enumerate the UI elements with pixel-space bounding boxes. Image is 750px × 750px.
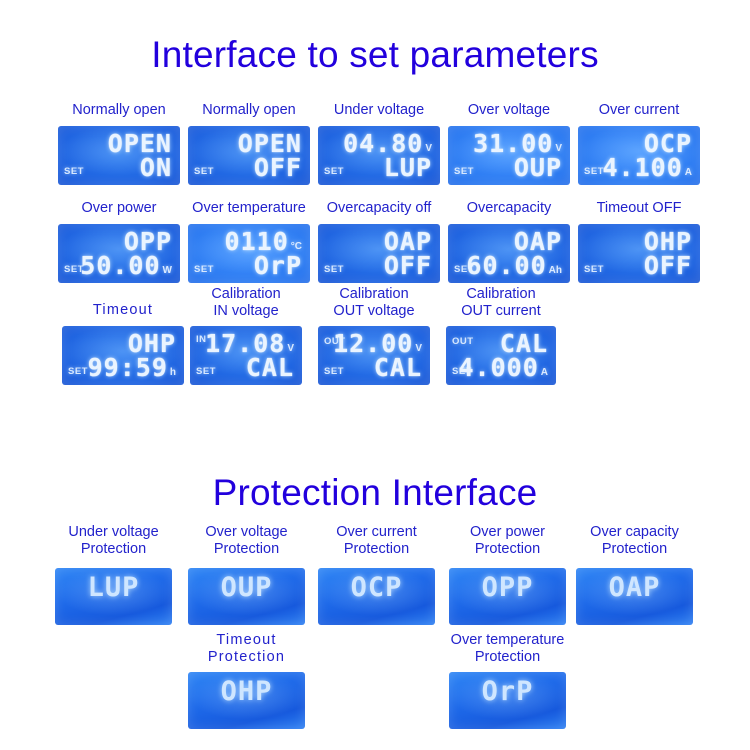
display-caption: TimeoutProtection <box>188 632 305 665</box>
setup-display-card: Over voltageSET31.00VOUP <box>448 126 570 185</box>
caption-line: Protection <box>576 541 693 558</box>
lcd-panel[interactable]: OAP <box>576 568 693 625</box>
lcd-set-indicator: SET <box>324 166 344 177</box>
display-caption: CalibrationOUT voltage <box>318 286 430 319</box>
lcd-panel[interactable]: SETOPENOFF <box>188 126 310 185</box>
protection-code: OCP <box>351 574 403 601</box>
lcd-secondary-row: OUP <box>514 155 562 180</box>
display-caption: Over powerProtection <box>449 524 566 557</box>
lcd-panel[interactable]: SET31.00VOUP <box>448 126 570 185</box>
protection-display-card: Over voltageProtectionOUP <box>188 568 305 625</box>
caption-line: Normally open <box>58 102 180 119</box>
display-caption: Over current <box>578 102 700 119</box>
protection-code: OAP <box>609 574 661 601</box>
lcd-set-indicator: SET <box>324 264 344 275</box>
lcd-set-indicator: SET <box>454 166 474 177</box>
display-caption: Over power <box>58 200 180 217</box>
protection-code: OHP <box>221 678 273 705</box>
display-caption: CalibrationIN voltage <box>190 286 302 319</box>
setup-display-card: Under voltageSET04.80VLUP <box>318 126 440 185</box>
lcd-secondary-row-value: OFF <box>644 253 692 278</box>
lcd-secondary-row-value: 4.000 <box>459 355 539 380</box>
lcd-panel[interactable]: OUTSET12.00VCAL <box>318 326 430 385</box>
caption-line: Protection <box>55 541 172 558</box>
display-caption: Normally open <box>58 102 180 119</box>
lcd-set-indicator: SET <box>64 166 84 177</box>
lcd-panel[interactable]: SETOAPOFF <box>318 224 440 283</box>
lcd-secondary-row: 4.000A <box>459 355 549 380</box>
caption-line: Over temperature <box>449 632 566 649</box>
display-caption: Timeout <box>62 302 184 319</box>
lcd-panel[interactable]: SET04.80VLUP <box>318 126 440 185</box>
setup-display-card: Normally openSETOPENON <box>58 126 180 185</box>
lcd-set-indicator: SET <box>194 264 214 275</box>
lcd-panel[interactable]: SETOPENON <box>58 126 180 185</box>
caption-line: Protection <box>188 649 305 666</box>
protection-display-card: Over temperatureProtectionOrP <box>449 672 566 729</box>
lcd-secondary-row-unit: A <box>685 167 692 180</box>
protection-display-card: Over powerProtectionOPP <box>449 568 566 625</box>
lcd-set-indicator: SET <box>324 366 344 377</box>
display-caption: Over temperatureProtection <box>449 632 566 665</box>
setup-display-card: CalibrationIN voltageINSET17.08VCAL <box>190 326 302 385</box>
lcd-secondary-row-value: 60.00 <box>466 253 546 278</box>
lcd-secondary-row: 99:59h <box>88 355 176 380</box>
lcd-panel[interactable]: SETOAP60.00Ah <box>448 224 570 283</box>
caption-line: Over voltage <box>448 102 570 119</box>
lcd-secondary-row: ON <box>140 155 172 180</box>
lcd-panel[interactable]: SETOPP50.00W <box>58 224 180 283</box>
display-caption: Under voltageProtection <box>55 524 172 557</box>
lcd-secondary-row: 50.00W <box>80 253 172 278</box>
caption-line: Protection <box>449 649 566 666</box>
caption-line: Over power <box>449 524 566 541</box>
caption-line: Protection <box>449 541 566 558</box>
setup-display-card: Normally openSETOPENOFF <box>188 126 310 185</box>
caption-line: Timeout OFF <box>578 200 700 217</box>
setup-display-card: TimeoutSETOHP99:59h <box>62 326 184 385</box>
caption-line: Timeout <box>62 302 184 319</box>
lcd-secondary-row: CAL <box>246 355 294 380</box>
lcd-set-indicator: SET <box>584 166 604 177</box>
setup-display-card: Over powerSETOPP50.00W <box>58 224 180 283</box>
setup-display-card: Timeout OFFSETOHPOFF <box>578 224 700 283</box>
lcd-secondary-row-unit: Ah <box>549 265 562 278</box>
protection-code: LUP <box>88 574 140 601</box>
display-caption: Over currentProtection <box>318 524 435 557</box>
setup-display-card: CalibrationOUT voltageOUTSET12.00VCAL <box>318 326 430 385</box>
caption-line: Overcapacity <box>448 200 570 217</box>
lcd-set-indicator: SET <box>68 366 88 377</box>
lcd-secondary-row-value: ON <box>140 155 172 180</box>
protection-code-row: OPP <box>449 568 566 625</box>
display-caption: Over voltage <box>448 102 570 119</box>
lcd-secondary-row-value: CAL <box>246 355 294 380</box>
setup-display-card: Over temperatureSET0110°COrP <box>188 224 310 283</box>
caption-line: Under voltage <box>318 102 440 119</box>
lcd-set-indicator: SET <box>584 264 604 275</box>
lcd-panel[interactable]: LUP <box>55 568 172 625</box>
protection-code: OrP <box>482 678 534 705</box>
lcd-panel[interactable]: SETOCP4.100A <box>578 126 700 185</box>
setup-display-card: OvercapacitySETOAP60.00Ah <box>448 224 570 283</box>
lcd-secondary-row: 4.100A <box>603 155 693 180</box>
section-title-protection: Protection Interface <box>0 472 750 514</box>
protection-code: OPP <box>482 574 534 601</box>
display-caption: Over capacityProtection <box>576 524 693 557</box>
lcd-secondary-row-value: OrP <box>254 253 302 278</box>
caption-line: Over capacity <box>576 524 693 541</box>
display-caption: Under voltage <box>318 102 440 119</box>
lcd-set-indicator: SET <box>196 366 216 377</box>
lcd-secondary-row-unit: W <box>163 265 172 278</box>
lcd-secondary-row: OrP <box>254 253 302 278</box>
caption-line: Over power <box>58 200 180 217</box>
caption-line: Over temperature <box>188 200 310 217</box>
lcd-secondary-row-value: OFF <box>384 253 432 278</box>
lcd-secondary-row: 60.00Ah <box>466 253 562 278</box>
display-caption: Over temperature <box>188 200 310 217</box>
lcd-panel[interactable]: OrP <box>449 672 566 729</box>
lcd-panel[interactable]: OUTSETCAL4.000A <box>446 326 556 385</box>
page-root: Interface to set parameters Protection I… <box>0 0 750 750</box>
lcd-secondary-row: OFF <box>254 155 302 180</box>
caption-line: Over voltage <box>188 524 305 541</box>
protection-code: OUP <box>221 574 273 601</box>
lcd-secondary-row-value: 4.100 <box>603 155 683 180</box>
protection-code-row: OrP <box>449 672 566 729</box>
display-caption: Overcapacity off <box>318 200 440 217</box>
protection-display-card: Under voltageProtectionLUP <box>55 568 172 625</box>
section-title-set-parameters: Interface to set parameters <box>0 34 750 76</box>
caption-line: Protection <box>188 541 305 558</box>
lcd-secondary-row-value: OUP <box>514 155 562 180</box>
lcd-panel[interactable]: SET0110°COrP <box>188 224 310 283</box>
protection-display-card: TimeoutProtectionOHP <box>188 672 305 729</box>
caption-line: Calibration <box>190 286 302 303</box>
setup-display-card: Over currentSETOCP4.100A <box>578 126 700 185</box>
caption-line: Calibration <box>446 286 556 303</box>
caption-line: OUT current <box>446 303 556 320</box>
protection-code-row: OAP <box>576 568 693 625</box>
setup-display-card: Overcapacity offSETOAPOFF <box>318 224 440 283</box>
caption-line: Under voltage <box>55 524 172 541</box>
lcd-secondary-row-value: OFF <box>254 155 302 180</box>
lcd-panel[interactable]: INSET17.08VCAL <box>190 326 302 385</box>
caption-line: Overcapacity off <box>318 200 440 217</box>
protection-code-row: OCP <box>318 568 435 625</box>
lcd-panel[interactable]: SETOHP99:59h <box>62 326 184 385</box>
lcd-panel[interactable]: OUP <box>188 568 305 625</box>
lcd-secondary-row-value: 99:59 <box>88 355 168 380</box>
lcd-secondary-row-value: CAL <box>374 355 422 380</box>
caption-line: Calibration <box>318 286 430 303</box>
caption-line: Over current <box>318 524 435 541</box>
lcd-secondary-row: OFF <box>644 253 692 278</box>
lcd-panel[interactable]: OHP <box>188 672 305 729</box>
lcd-panel[interactable]: SETOHPOFF <box>578 224 700 283</box>
lcd-secondary-row-value: LUP <box>384 155 432 180</box>
lcd-panel[interactable]: OPP <box>449 568 566 625</box>
lcd-secondary-row: OFF <box>384 253 432 278</box>
lcd-secondary-row: LUP <box>384 155 432 180</box>
display-caption: Overcapacity <box>448 200 570 217</box>
protection-code-row: OHP <box>188 672 305 729</box>
display-caption: Normally open <box>188 102 310 119</box>
caption-line: Over current <box>578 102 700 119</box>
protection-code-row: OUP <box>188 568 305 625</box>
lcd-secondary-row-unit: h <box>170 367 176 380</box>
caption-line: Normally open <box>188 102 310 119</box>
caption-line: Timeout <box>188 632 305 649</box>
lcd-secondary-row: CAL <box>374 355 422 380</box>
protection-code-row: LUP <box>55 568 172 625</box>
caption-line: IN voltage <box>190 303 302 320</box>
lcd-panel[interactable]: OCP <box>318 568 435 625</box>
protection-display-card: Over currentProtectionOCP <box>318 568 435 625</box>
lcd-set-indicator: SET <box>194 166 214 177</box>
lcd-top-indicator: OUT <box>452 336 474 347</box>
caption-line: OUT voltage <box>318 303 430 320</box>
display-caption: Over voltageProtection <box>188 524 305 557</box>
display-caption: Timeout OFF <box>578 200 700 217</box>
setup-display-card: CalibrationOUT currentOUTSETCAL4.000A <box>446 326 556 385</box>
lcd-secondary-row-unit: A <box>541 367 548 380</box>
lcd-secondary-row-value: 50.00 <box>80 253 160 278</box>
protection-display-card: Over capacityProtectionOAP <box>576 568 693 625</box>
display-caption: CalibrationOUT current <box>446 286 556 319</box>
caption-line: Protection <box>318 541 435 558</box>
